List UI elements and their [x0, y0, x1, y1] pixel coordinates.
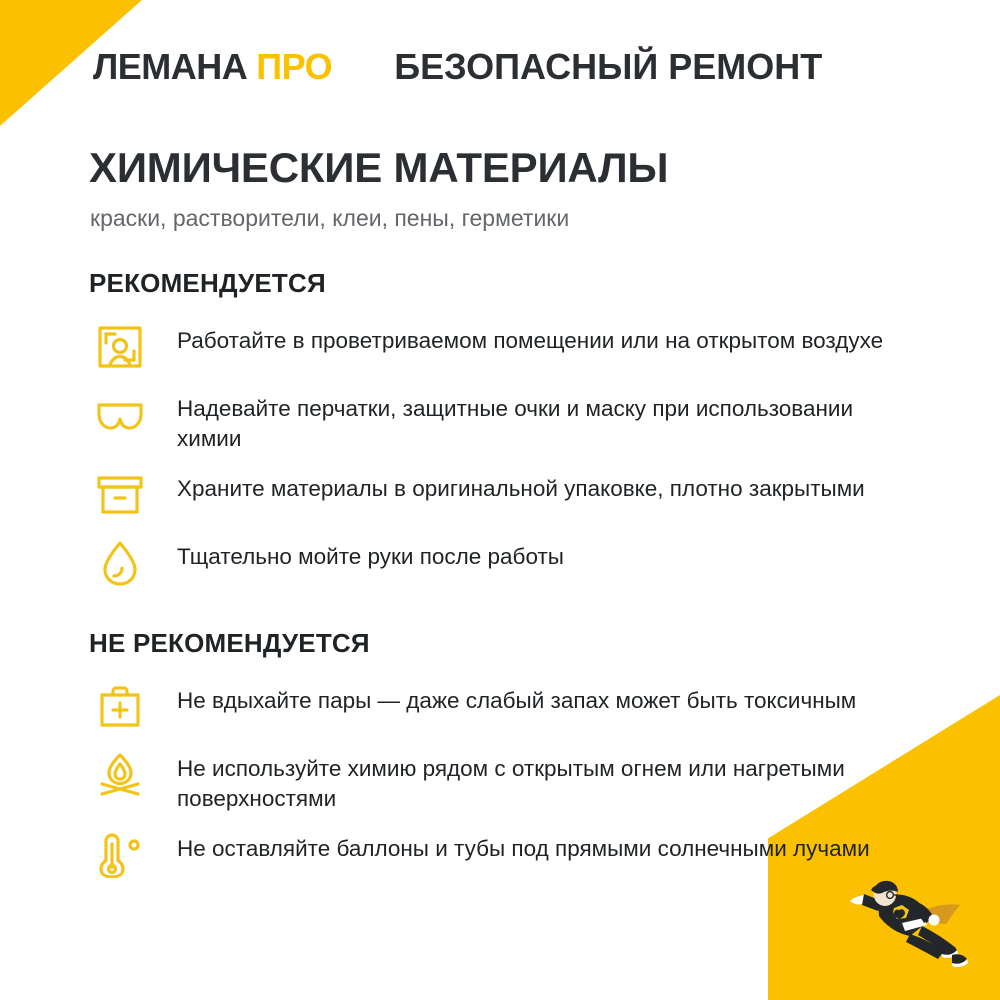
thermometer-sun-icon	[89, 828, 151, 882]
safety-goggles-icon	[89, 388, 151, 442]
list-item-text: Не используйте химию рядом с открытым ог…	[177, 748, 897, 814]
list-item: Не оставляйте баллоны и тубы под прямыми…	[89, 828, 929, 882]
first-aid-kit-icon	[89, 680, 151, 734]
poster-header: ЛЕМАНАПРО БЕЗОПАСНЫЙ РЕМОНТ	[93, 42, 940, 92]
list-item-text: Тщательно мойте руки после работы	[177, 536, 564, 572]
lemana-pro-logo: ЛЕМАНАПРО	[93, 49, 332, 85]
section-heading-not-recommended: НЕ РЕКОМЕНДУЕТСЯ	[89, 630, 929, 656]
list-item-text: Не оставляйте баллоны и тубы под прямыми…	[177, 828, 870, 864]
list-item-text: Работайте в проветриваемом помещении или…	[177, 320, 883, 356]
storage-box-icon	[89, 468, 151, 522]
not-recommended-item-list: Не вдыхайте пары — даже слабый запах мож…	[89, 680, 929, 896]
logo-text-pro: ПРО	[256, 46, 332, 87]
section-recommended: РЕКОМЕНДУЕТСЯ Работайте в проветриваемом…	[89, 270, 929, 604]
list-item-text: Надевайте перчатки, защитные очки и маск…	[177, 388, 897, 454]
section-not-recommended: НЕ РЕКОМЕНДУЕТСЯ Не вдыхайте пары — даже…	[89, 630, 929, 896]
list-item: Тщательно мойте руки после работы	[89, 536, 929, 590]
recommended-item-list: Работайте в проветриваемом помещении или…	[89, 320, 929, 604]
flying-superhero-mascot	[824, 862, 980, 972]
list-item: Работайте в проветриваемом помещении или…	[89, 320, 929, 374]
logo-text-lemana: ЛЕМАНА	[93, 46, 247, 87]
list-item-text: Не вдыхайте пары — даже слабый запах мож…	[177, 680, 856, 716]
list-item: Не используйте химию рядом с открытым ог…	[89, 748, 929, 814]
water-drop-icon	[89, 536, 151, 590]
list-item: Не вдыхайте пары — даже слабый запах мож…	[89, 680, 929, 734]
list-item-text: Храните материалы в оригинальной упаковк…	[177, 468, 865, 504]
section-heading-recommended: РЕКОМЕНДУЕТСЯ	[89, 270, 929, 296]
page-subtitle: краски, растворители, клеи, пены, гермет…	[90, 205, 569, 233]
safety-infographic-poster: ЛЕМАНАПРО БЕЗОПАСНЫЙ РЕМОНТ ХИМИЧЕСКИЕ М…	[0, 0, 1000, 1000]
page-title: ХИМИЧЕСКИЕ МАТЕРИАЛЫ	[89, 146, 668, 190]
header-campaign-title: БЕЗОПАСНЫЙ РЕМОНТ	[394, 49, 822, 85]
campfire-flame-icon	[89, 748, 151, 802]
list-item: Надевайте перчатки, защитные очки и маск…	[89, 388, 929, 454]
list-item: Храните материалы в оригинальной упаковк…	[89, 468, 929, 522]
ventilated-room-icon	[89, 320, 151, 374]
